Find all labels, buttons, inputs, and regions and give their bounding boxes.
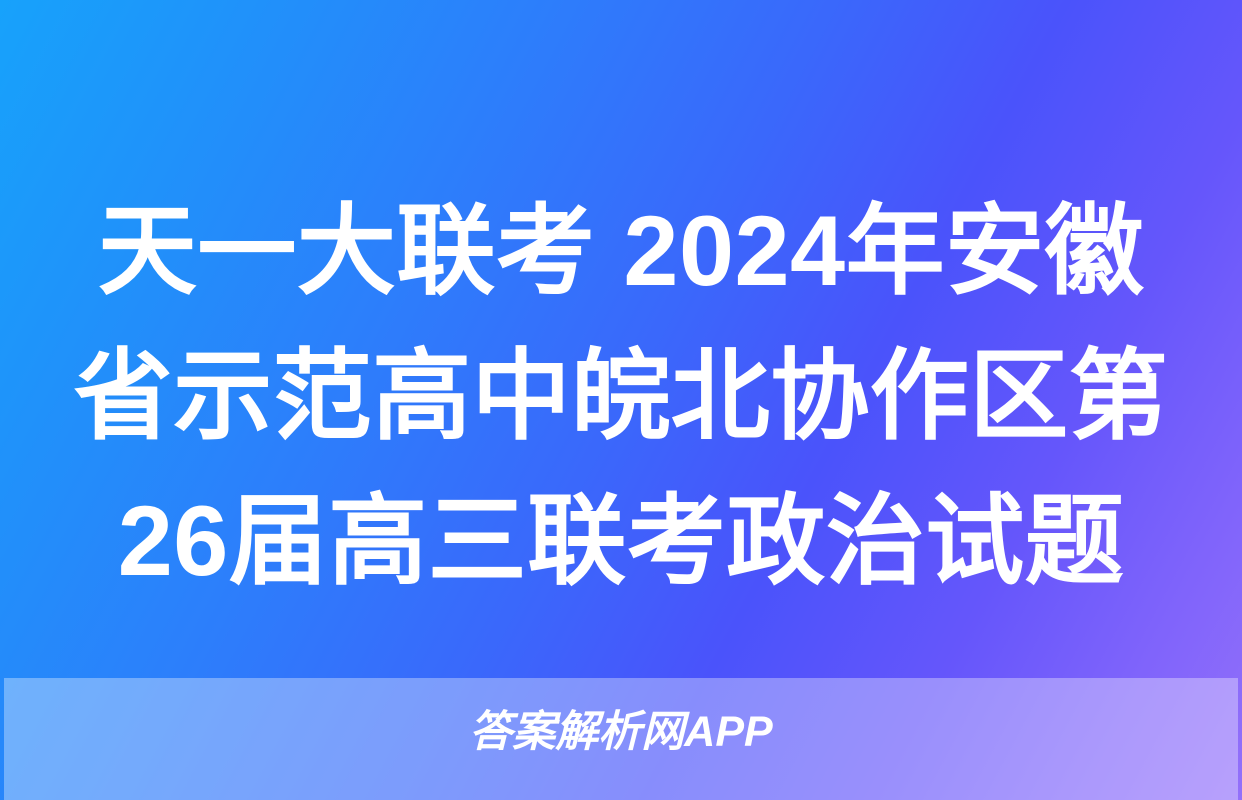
title-line-3: 26届高三联考政治试题 (40, 468, 1202, 613)
watermark-label: 答案解析网APP (469, 706, 772, 758)
page-title: 天一大联考 2024年安徽 省示范高中皖北协作区第 26届高三联考政治试题 (0, 178, 1242, 613)
title-line-2: 省示范高中皖北协作区第 (40, 323, 1202, 468)
exam-title-card: 天一大联考 2024年安徽 省示范高中皖北协作区第 26届高三联考政治试题 答案… (0, 0, 1242, 800)
watermark: 答案解析网APP (0, 706, 1242, 758)
title-line-1: 天一大联考 2024年安徽 (40, 178, 1202, 323)
footer-banner (4, 678, 1238, 800)
